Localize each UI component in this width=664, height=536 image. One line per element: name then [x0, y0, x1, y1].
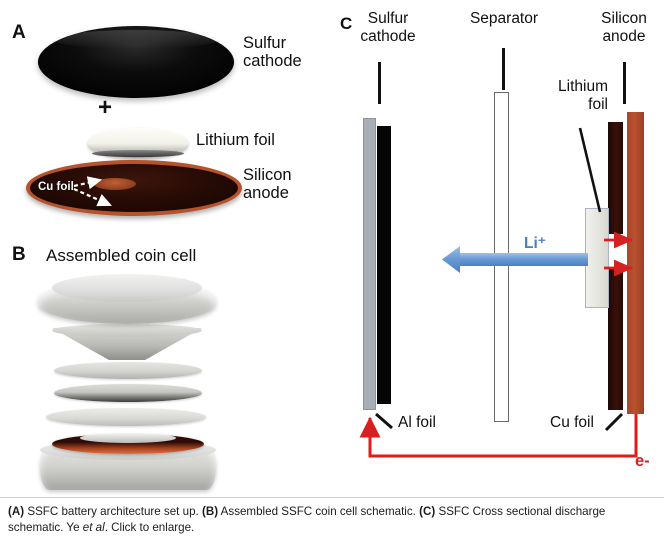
al-foil-leader-line — [376, 414, 392, 428]
caption-text-b: Assembled SSFC coin cell schematic. — [218, 505, 419, 518]
caption-tag-b: (B) — [202, 505, 218, 518]
al-foil-label: Al foil — [398, 414, 436, 432]
coin-cell-separator-disc — [46, 408, 206, 426]
caption-tag-c: (C) — [419, 505, 435, 518]
panel-c: C Sulfur cathode Separator Silicon anode… — [332, 0, 664, 497]
cu-foil-leader-line — [606, 414, 622, 430]
coin-cell-spacer-disc-1 — [54, 362, 202, 379]
caption-text-a: SSFC battery architecture set up. — [24, 505, 202, 518]
caption-text-end: . Click to enlarge. — [105, 521, 195, 534]
lithium-foil-label-a: Lithium foil — [196, 131, 275, 149]
sulfur-cathode-label-a: Sulfur cathode — [243, 34, 302, 71]
panel-a: A + Cu foil Sulfur cathode Lithium foil … — [0, 0, 332, 240]
panel-b-letter: B — [12, 244, 26, 266]
figure-caption: (A) SSFC battery architecture set up. (B… — [0, 497, 664, 535]
figure-canvas: A + Cu foil Sulfur cathode Lithium foil … — [0, 0, 664, 497]
panel-b: B Assembled coin cell — [0, 240, 332, 495]
panel-b-title: Assembled coin cell — [46, 246, 196, 266]
coin-cell-electrode-ring — [80, 433, 176, 443]
coin-cell-spring-washer-face — [52, 324, 202, 337]
silicon-anode-label-a: Silicon anode — [243, 166, 292, 203]
li-ion-arrow — [442, 246, 588, 273]
li-ion-label: Li⁺ — [524, 234, 546, 253]
caption-et-al: et al — [83, 521, 105, 534]
electron-label: e- — [635, 452, 650, 471]
coin-cell-top-cap-dome — [52, 274, 202, 302]
panel-c-vectors — [332, 0, 664, 497]
caption-tag-a: (A) — [8, 505, 24, 518]
coin-cell-spacer-disc-2 — [54, 384, 202, 402]
lithium-foil-leader-line — [580, 128, 600, 212]
cu-foil-label-c: Cu foil — [550, 414, 594, 432]
